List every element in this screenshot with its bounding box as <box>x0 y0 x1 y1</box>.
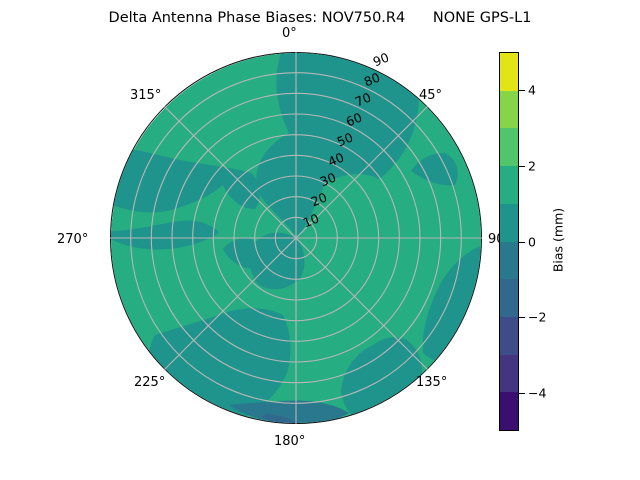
colorbar-ticklabel-neg2: −2 <box>528 310 546 325</box>
colorbar-axis-label: Bias (mm) <box>551 208 566 272</box>
polar-angular-label-135: 135° <box>416 375 447 390</box>
colorbar-band <box>500 166 518 204</box>
colorbar-band <box>500 279 518 317</box>
polar-angular-label-270: 270° <box>57 232 88 247</box>
polar-angular-label-0: 0° <box>282 26 297 41</box>
polar-angular-label-180: 180° <box>274 434 305 449</box>
colorbar-band <box>500 204 518 242</box>
colorbar-tickmark <box>519 166 525 167</box>
colorbar-ticklabel-neg4: −4 <box>528 386 546 401</box>
colorbar-tickmark <box>519 90 525 91</box>
colorbar-band <box>500 355 518 393</box>
polar-angular-label-315: 315° <box>130 88 161 103</box>
colorbar-ticklabel-2: 2 <box>528 158 536 173</box>
polar-radial-label-90: 90 <box>371 50 391 70</box>
colorbar[interactable]: 4 2 0 −2 −4 <box>499 52 519 431</box>
polar-axes[interactable]: 0° 45° 90 135° 180° 225° 270° 315° 10 20… <box>110 52 482 424</box>
polar-data-disc <box>110 52 482 424</box>
colorbar-gradient <box>499 52 519 431</box>
colorbar-band <box>500 392 518 430</box>
colorbar-band <box>500 128 518 166</box>
colorbar-ticklabel-0: 0 <box>528 234 536 249</box>
colorbar-band <box>500 317 518 355</box>
colorbar-band <box>500 91 518 129</box>
colorbar-band <box>500 242 518 280</box>
page-title: Delta Antenna Phase Biases: NOV750.R4 NO… <box>0 10 640 26</box>
polar-angular-label-45: 45° <box>419 88 442 103</box>
colorbar-tickmark <box>519 242 525 243</box>
colorbar-tickmark <box>519 393 525 394</box>
contour-fill-svg <box>111 53 482 424</box>
colorbar-tickmark <box>519 317 525 318</box>
polar-angular-label-225: 225° <box>134 375 165 390</box>
colorbar-band <box>500 53 518 91</box>
colorbar-ticklabel-4: 4 <box>528 82 536 97</box>
figure-canvas: Delta Antenna Phase Biases: NOV750.R4 NO… <box>0 0 640 480</box>
